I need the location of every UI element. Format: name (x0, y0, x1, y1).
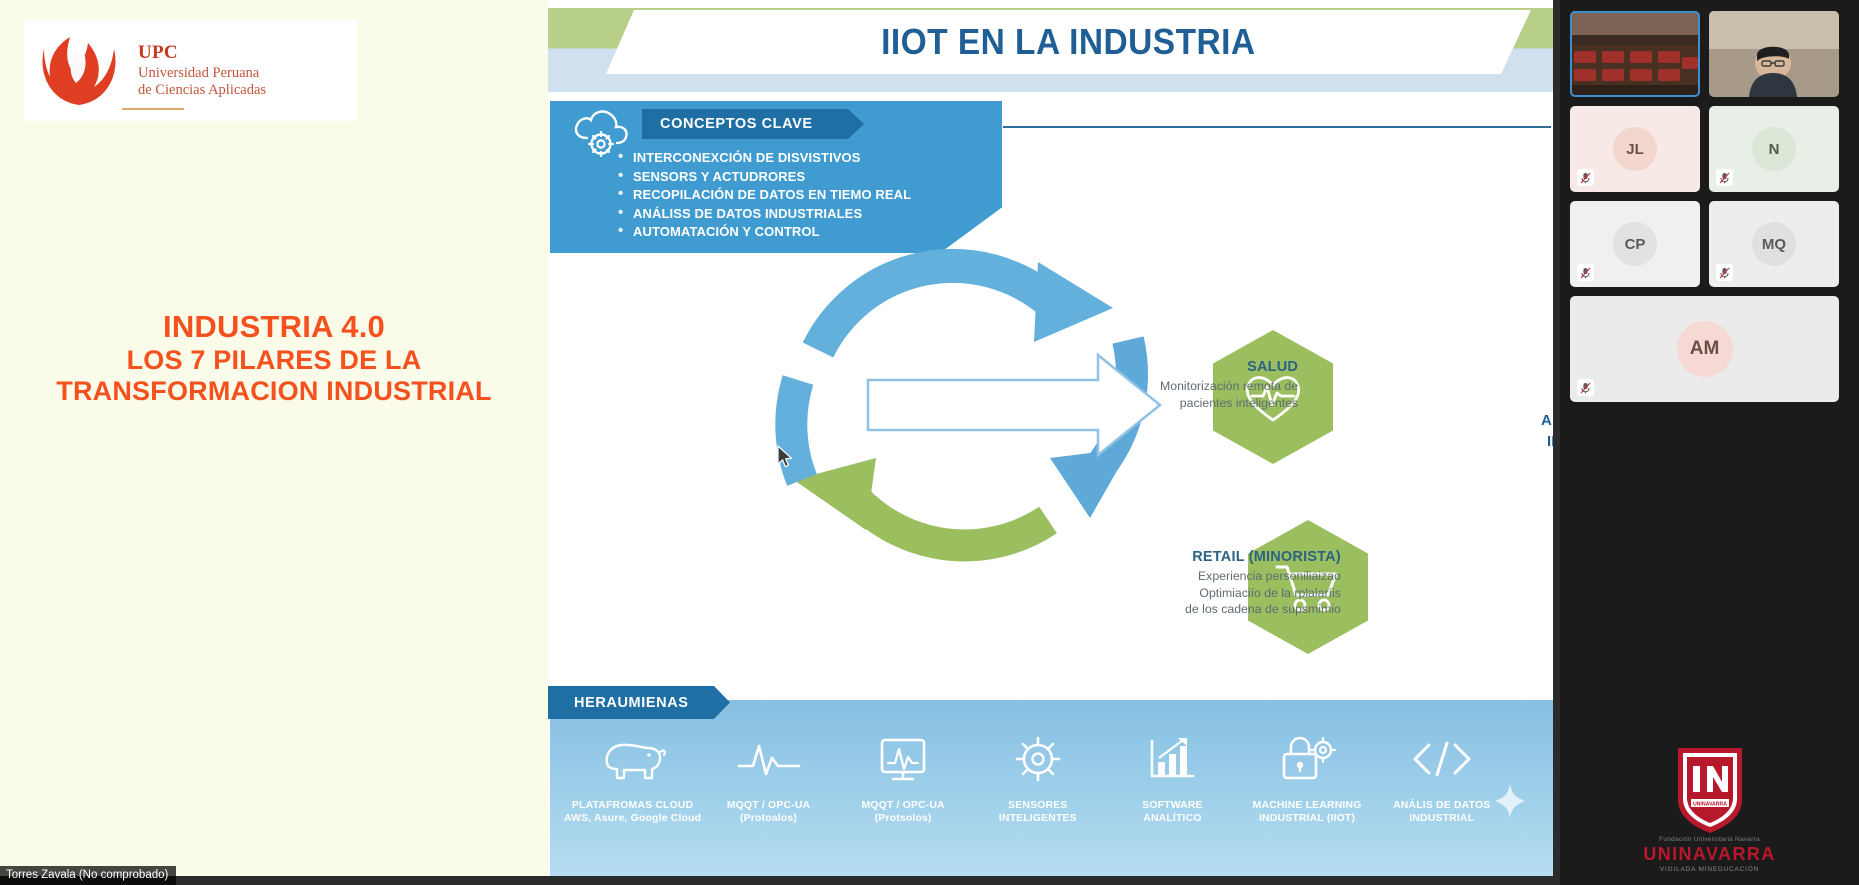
concepto-item: INTERCONEXCIÓN DE DISVISTIVOS (616, 149, 911, 168)
sparkle-icon (1493, 782, 1527, 820)
slide-headline: INDUSTRIA 4.0 LOS 7 PILARES DE LA TRANSF… (0, 309, 548, 408)
uninavarra-branding: UNINAVARRA Fundación Universitaria Navar… (1560, 744, 1859, 873)
herramientas-panel: HERAUMIENAS (550, 700, 1553, 876)
presenter-video-thumbnail (1709, 11, 1839, 97)
herramientas-items: PLATAFROMAS CLOUD AWS, Asure, Google Clo… (564, 730, 1509, 850)
tool-label-line-1: ANÁLIS DE DATOS (1393, 799, 1490, 812)
tool-label-sensores-inteligentes: SENSORES INTELIGENTES (999, 799, 1077, 825)
aplicaciones-line-1: APLICACIONES (1541, 410, 1553, 431)
infographic-title: IIOT EN LA INDUSTRIA (881, 21, 1255, 63)
participant-tile-grid: JL N (1570, 11, 1849, 402)
headline-line-2: LOS 7 PILARES DE LA (0, 345, 548, 376)
shared-screen-region[interactable]: UPC Universidad Peruana de Ciencias Apli… (0, 0, 1560, 885)
concepto-item: SENSORS Y ACTUDRORES (616, 168, 911, 187)
tool-label-line-2: AWS, Asure, Google Cloud (564, 812, 701, 825)
headline-line-3: TRANSFORMACION INDUSTRIAL (0, 376, 548, 407)
conceptos-clave-tag: CONCEPTOS CLAVE (642, 109, 864, 139)
upc-logo-text: UPC Universidad Peruana de Ciencias Apli… (138, 42, 266, 99)
participant-tile-am[interactable]: AM (1570, 296, 1839, 402)
tool-item-mqtt-opc-ua-1: MQQT / OPC-UA (Protoalos) (701, 730, 836, 850)
upc-line-1: Universidad Peruana (138, 65, 266, 82)
retail-sub-line: Optimiaciío de la rplalaríis (1185, 585, 1341, 602)
avatar: AM (1677, 321, 1733, 377)
participant-tile-n[interactable]: N (1709, 106, 1839, 192)
tool-label-plataformas-cloud: PLATAFROMAS CLOUD AWS, Asure, Google Clo… (564, 799, 701, 825)
salud-sub-line: pacientes inteligentes (1160, 395, 1298, 412)
tool-label-line-1: MACHINE LEARNING (1253, 799, 1362, 812)
microphone-muted-icon (1577, 379, 1594, 396)
tool-item-analisis-datos: ANÁLIS DE DATOS INDUSTRIAL (1374, 730, 1509, 850)
tool-label-line-1: MQQT / OPC-UA (861, 799, 944, 812)
herramientas-tag: HERAUMIENAS (548, 686, 730, 719)
tool-item-plataformas-cloud: PLATAFROMAS CLOUD AWS, Asure, Google Clo… (564, 730, 701, 850)
chart-monitor-icon (876, 730, 930, 788)
conceptos-clave-list: INTERCONEXCIÓN DE DISVISTIVOS SENSORS Y … (616, 149, 911, 242)
microphone-muted-icon (1577, 169, 1594, 186)
tool-label-line-2: (Protsolos) (861, 812, 944, 825)
headline-line-1: INDUSTRIA 4.0 (0, 309, 548, 345)
herramientas-tag-label: HERAUMIENAS (574, 695, 689, 711)
retail-text-block: RETAIL (MINORISTA) Experiencia personili… (1185, 549, 1341, 618)
tool-label-line-2: INDUSTRIAL (IIOT) (1253, 812, 1362, 825)
classroom-video-thumbnail (1570, 11, 1700, 97)
aplicaciones-industriales-label: APLICACIONES INDUSTRIAES (1541, 410, 1553, 452)
tool-label-line-2: (Protoalos) (727, 812, 810, 825)
aplicaciones-line-2: INDUSTRIAES (1541, 431, 1553, 452)
avatar: N (1752, 127, 1796, 171)
upc-logo-card: UPC Universidad Peruana de Ciencias Apli… (24, 20, 357, 121)
participant-tile-self-video[interactable] (1570, 11, 1700, 97)
tool-label-line-2: ANALÍTICO (1142, 812, 1202, 825)
cycle-arrows-diagram (698, 230, 1258, 610)
pulse-wave-icon (737, 730, 801, 788)
tool-label-line-2: INDUSTRIAL (1393, 812, 1490, 825)
salud-sub-line: Monitorización remota de (1160, 378, 1298, 395)
slide-left-pane: UPC Universidad Peruana de Ciencias Apli… (0, 0, 548, 876)
tool-item-software-analitico: SOFTWARE ANALÍTICO (1105, 730, 1240, 850)
tool-item-mqtt-opc-ua-2: MQQT / OPC-UA (Protsolos) (836, 730, 971, 850)
tool-label-software-analitico: SOFTWARE ANALÍTICO (1142, 799, 1202, 825)
infographic: IIOT EN LA INDUSTRIA (548, 0, 1553, 876)
salud-title: SALUD (1160, 359, 1298, 375)
retail-sub-line: de los cadena de supsmimio (1185, 601, 1341, 618)
mouse-cursor-icon (776, 445, 794, 469)
lock-gear-icon (1278, 730, 1336, 788)
uninavarra-name: UNINAVARRA (1643, 844, 1775, 865)
microphone-muted-icon (1577, 264, 1594, 281)
tool-label-line-1: PLATAFROMAS CLOUD (564, 799, 701, 812)
header-divider-line (1003, 126, 1551, 128)
participant-tile-cp[interactable]: CP (1570, 201, 1700, 287)
tool-item-machine-learning: MACHINE LEARNING INDUSTRIAL (IIOT) (1240, 730, 1375, 850)
infographic-title-ribbon: IIOT EN LA INDUSTRIA (606, 10, 1531, 74)
avatar: CP (1613, 222, 1657, 266)
microphone-muted-icon (1716, 169, 1733, 186)
uninavarra-crest-icon: UNINAVARRA (1671, 744, 1749, 836)
presentation-slide[interactable]: UPC Universidad Peruana de Ciencias Apli… (0, 0, 1553, 876)
uninavarra-caption: Fundación Universitaria Navarra (1659, 836, 1760, 843)
upc-acronym: UPC (138, 42, 266, 64)
active-speaker-name-banner: Torres Zavala (No comprobado) (0, 866, 176, 885)
code-tag-icon (1411, 730, 1473, 788)
tool-label-mqtt-opc-ua-2: MQQT / OPC-UA (Protsolos) (861, 799, 944, 825)
svg-text:UNINAVARRA: UNINAVARRA (1692, 802, 1726, 808)
tool-label-machine-learning: MACHINE LEARNING INDUSTRIAL (IIOT) (1253, 799, 1362, 825)
avatar: MQ (1752, 222, 1796, 266)
retail-title: RETAIL (MINORISTA) (1185, 549, 1341, 565)
hadoop-elephant-icon (600, 730, 666, 788)
concepto-item: ANÁLISS DE DATOS INDUSTRIALES (616, 205, 911, 224)
tool-label-line-1: SOFTWARE (1142, 799, 1202, 812)
concepto-item: RECOPILACIÓN DE DATOS EN TIEMO REAL (616, 186, 911, 205)
upc-flame-logo-icon (36, 31, 122, 111)
retail-sub-line: Experiencia personiliaizao (1185, 568, 1341, 585)
tool-label-line-2: INTELIGENTES (999, 812, 1077, 825)
bar-chart-icon (1147, 730, 1197, 788)
upc-logo-underline (122, 108, 184, 110)
participant-tile-presenter-video[interactable] (1709, 11, 1839, 97)
meeting-window: UPC Universidad Peruana de Ciencias Apli… (0, 0, 1859, 885)
avatar: JL (1613, 127, 1657, 171)
microphone-muted-icon (1716, 264, 1733, 281)
conceptos-clave-tag-label: CONCEPTOS CLAVE (660, 116, 813, 132)
participant-rail[interactable]: JL N (1560, 0, 1859, 885)
salud-text-block: SALUD Monitorización remota de pacientes… (1160, 359, 1298, 411)
upc-line-2: de Ciencias Aplicadas (138, 82, 266, 99)
gear-icon (1013, 730, 1063, 788)
tool-label-mqtt-opc-ua-1: MQQT / OPC-UA (Protoalos) (727, 799, 810, 825)
tool-label-analisis-datos: ANÁLIS DE DATOS INDUSTRIAL (1393, 799, 1490, 825)
participant-tile-jl[interactable]: JL (1570, 106, 1700, 192)
tool-item-sensores-inteligentes: SENSORES INTELIGENTES (970, 730, 1105, 850)
tool-label-line-1: MQQT / OPC-UA (727, 799, 810, 812)
tool-label-line-1: SENSORES (999, 799, 1077, 812)
uninavarra-tagline: VIGILADA MINEDUCACIÓN (1660, 866, 1759, 873)
participant-tile-mq[interactable]: MQ (1709, 201, 1839, 287)
